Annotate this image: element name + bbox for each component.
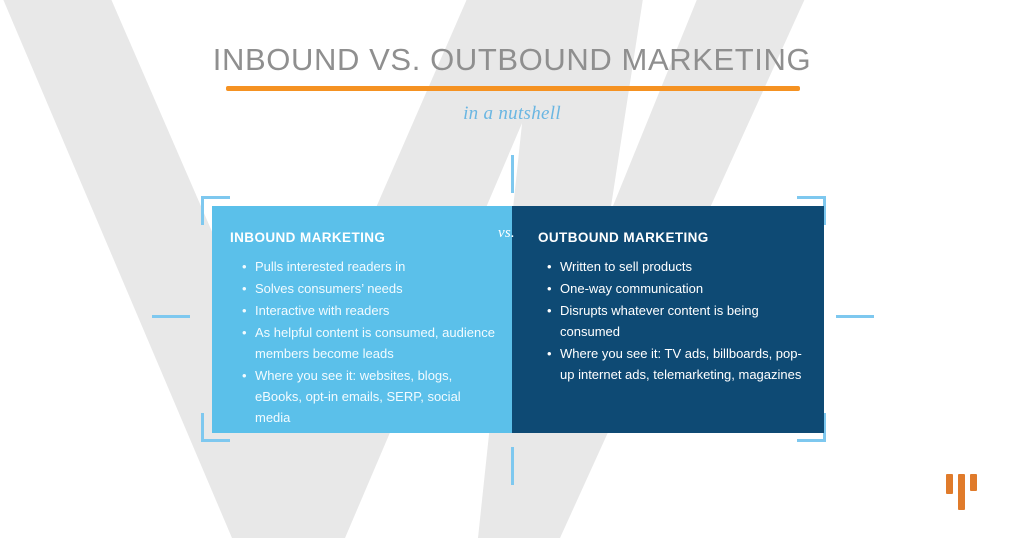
list-item: One-way communication [546, 278, 806, 299]
title-underline-rule [226, 86, 800, 91]
brand-logo-bar-left [946, 474, 953, 494]
tick-mark-left-icon [152, 315, 190, 318]
tick-mark-right-icon [836, 315, 874, 318]
list-item: Where you see it: websites, blogs, eBook… [241, 365, 496, 428]
brand-logo-bar-right [970, 474, 977, 491]
panel-outbound-bullet-list: Written to sell products One-way communi… [538, 256, 806, 385]
panel-inbound: INBOUND MARKETING Pulls interested reade… [212, 206, 512, 433]
list-item: Pulls interested readers in [241, 256, 496, 277]
list-item: Solves consumers’ needs [241, 278, 496, 299]
page-subtitle: in a nutshell [0, 103, 1024, 125]
list-item: As helpful content is consumed, audience… [241, 322, 496, 364]
list-item: Where you see it: TV ads, billboards, po… [546, 343, 806, 385]
panel-inbound-heading: INBOUND MARKETING [230, 230, 496, 245]
brand-logo-bar-middle [958, 474, 965, 510]
brand-logo-icon [946, 474, 980, 514]
versus-label: vs. [498, 225, 515, 242]
list-item: Interactive with readers [241, 300, 496, 321]
comparison-panels: INBOUND MARKETING Pulls interested reade… [212, 206, 824, 433]
panel-outbound-heading: OUTBOUND MARKETING [538, 230, 806, 245]
tick-mark-top-icon [511, 155, 514, 193]
panel-inbound-bullet-list: Pulls interested readers in Solves consu… [230, 256, 496, 428]
page-title: INBOUND VS. OUTBOUND MARKETING [0, 42, 1024, 78]
tick-mark-bottom-icon [511, 447, 514, 485]
slide-canvas: INBOUND VS. OUTBOUND MARKETING in a nuts… [0, 0, 1024, 538]
list-item: Written to sell products [546, 256, 806, 277]
panel-outbound: OUTBOUND MARKETING Written to sell produ… [512, 206, 824, 433]
list-item: Disrupts whatever content is being consu… [546, 300, 806, 342]
